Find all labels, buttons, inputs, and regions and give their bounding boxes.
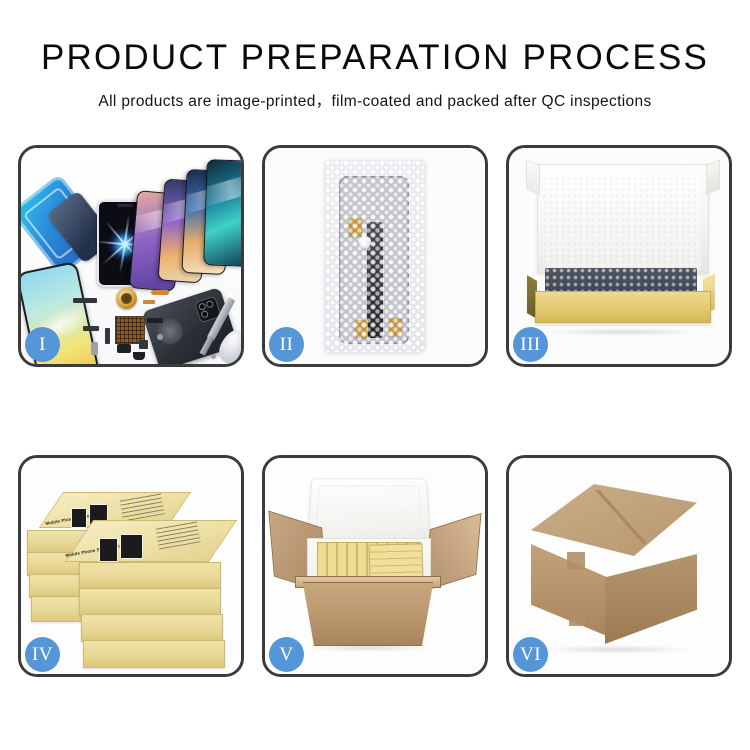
part-bracket-2: [83, 326, 99, 331]
carton-tape-lower: [569, 610, 585, 626]
part-speaker: [117, 344, 131, 353]
part-flex-cable-1: [151, 290, 169, 295]
process-step-panel-2[interactable]: II: [262, 145, 488, 367]
process-step-grid: I II III: [18, 145, 732, 677]
part-bracket-1: [105, 328, 110, 344]
step-badge-5: V: [269, 637, 304, 672]
stack-box-f3: [81, 614, 223, 642]
process-step-panel-1[interactable]: I: [18, 145, 244, 367]
bubble-wrap-bag: [325, 160, 425, 352]
process-step-panel-3[interactable]: III: [506, 145, 732, 367]
stack-top-box-front: [65, 520, 237, 562]
phone-graphic-teal: [203, 159, 241, 267]
box-window-front-2: [120, 534, 143, 559]
part-chip: [139, 340, 148, 349]
wrapped-connector-3: [389, 318, 402, 336]
carton-tape-upper: [567, 552, 585, 570]
foam-sheet: [543, 176, 701, 270]
part-battery-tab: [91, 342, 98, 355]
carton-front-panel: [297, 582, 439, 646]
bubble-packed-contents: [545, 268, 697, 292]
wrapped-button: [359, 236, 371, 248]
stack-box-f1: [79, 562, 221, 590]
part-vibrator: [133, 352, 145, 360]
carton-shadow: [305, 644, 431, 652]
step-badge-6: VI: [513, 637, 548, 672]
sealed-carton-right-face: [605, 554, 697, 644]
box-shadow: [543, 328, 703, 336]
box-window-front-1: [99, 538, 118, 562]
sealed-carton-shadow: [541, 645, 691, 654]
step-badge-3: III: [513, 327, 548, 362]
box-window-rear-1: [71, 508, 87, 528]
page-subtitle: All products are image-printed，film-coat…: [0, 89, 750, 111]
sealed-carton-top-face: [531, 484, 697, 556]
part-antenna: [73, 298, 97, 303]
part-flex-cable-2: [143, 300, 155, 304]
step-badge-4: IV: [25, 637, 60, 672]
stack-box-f4: [83, 640, 225, 668]
part-connector-strip: [147, 318, 163, 323]
step-badge-1: I: [25, 327, 60, 362]
wrapped-connector-1: [349, 218, 362, 236]
phone-notch: [117, 204, 133, 207]
wrapped-connector-2: [355, 320, 368, 338]
page-title: PRODUCT PREPARATION PROCESS: [0, 40, 750, 75]
process-step-panel-5[interactable]: V: [262, 455, 488, 677]
page-header: PRODUCT PREPARATION PROCESS All products…: [0, 0, 750, 111]
process-step-panel-6[interactable]: VI: [506, 455, 732, 677]
stack-box-f2: [79, 588, 221, 616]
part-screw-2: [211, 354, 216, 359]
process-step-panel-4[interactable]: Mobile Phone Spare Parts Mobile Phone Sp…: [18, 455, 244, 677]
part-screw-1: [157, 334, 163, 340]
step-badge-2: II: [269, 327, 304, 362]
wireless-charging-coil: [116, 288, 137, 309]
inner-box-front-panel: [535, 291, 711, 323]
